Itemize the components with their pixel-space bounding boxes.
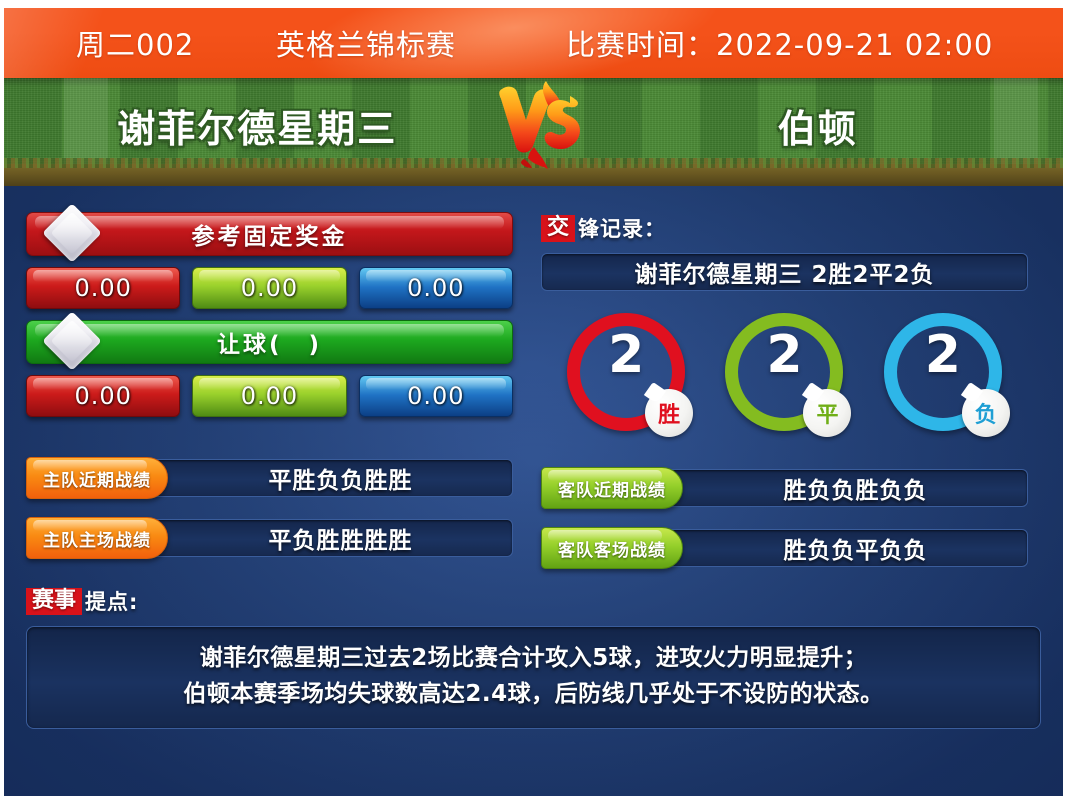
h2h-draw-count: 2: [725, 329, 843, 381]
fixed-odds-draw-button[interactable]: 0.00: [192, 267, 346, 309]
away-away-form-tag[interactable]: 客队客场战绩: [541, 527, 683, 569]
home-home-form-row: 主队主场战绩 平负胜胜胜胜: [26, 517, 513, 559]
handicap-draw-button[interactable]: 0.00: [192, 375, 346, 417]
league-name: 英格兰锦标赛: [276, 22, 566, 64]
tips-line: 谢菲尔德星期三过去2场比赛合计攻入5球，进攻火力明显提升；: [47, 641, 1020, 677]
fixed-odds-loss-button[interactable]: 0.00: [359, 267, 513, 309]
fixed-odds-header: 参考固定奖金: [26, 212, 513, 256]
card-body: 参考固定奖金 0.00 0.00 0.00: [4, 186, 1063, 796]
away-away-form-value: 胜负负平负负: [784, 531, 928, 565]
home-recent-form-value: 平胜负负胜胜: [269, 461, 413, 495]
h2h-win-ring: 2 胜: [567, 313, 685, 431]
h2h-loss-ring: 2 负: [884, 313, 1002, 431]
away-away-form-row: 客队客场战绩 胜负负平负负: [541, 527, 1028, 569]
h2h-label-text: 锋记录：: [578, 213, 666, 243]
handicap-header: 让球( ): [26, 320, 513, 364]
handicap-odds-row: 0.00 0.00 0.00: [26, 375, 513, 417]
diamond-gem-icon: [42, 203, 101, 262]
away-team-name: 伯顿: [593, 98, 1064, 153]
away-recent-form-slot: 胜负负胜负负: [649, 469, 1028, 507]
h2h-panel: 交 锋记录： 谢菲尔德星期三 2胜2平2负 2 胜 2 平: [541, 212, 1028, 569]
tag-gloss: [33, 520, 147, 531]
match-tips-box: 谢菲尔德星期三过去2场比赛合计攻入5球，进攻火力明显提升； 伯顿本赛季场均失球数…: [26, 626, 1041, 729]
header-bar: 周二002 英格兰锦标赛 比赛时间：2022-09-21 02:00: [4, 8, 1063, 78]
button-gloss: [366, 378, 506, 390]
match-preview-card: 周二002 英格兰锦标赛 比赛时间：2022-09-21 02:00 谢菲尔德星…: [4, 8, 1063, 796]
button-gloss: [366, 270, 506, 282]
match-tips-section: 赛事 提点: 谢菲尔德星期三过去2场比赛合计攻入5球，进攻火力明显提升； 伯顿本…: [4, 569, 1063, 729]
tag-gloss: [548, 470, 662, 481]
h2h-win-count: 2: [567, 329, 685, 381]
matchup-banner: 谢菲尔德星期三: [4, 78, 1063, 186]
fixed-odds-row: 0.00 0.00 0.00: [26, 267, 513, 309]
home-recent-form-slot: 平胜负负胜胜: [134, 459, 513, 497]
tag-gloss: [33, 460, 147, 471]
button-gloss: [199, 378, 339, 390]
home-recent-form-tag[interactable]: 主队近期战绩: [26, 457, 168, 499]
home-home-form-tag[interactable]: 主队主场战绩: [26, 517, 168, 559]
vs-flame-icon: [483, 78, 593, 172]
away-away-form-slot: 胜负负平负负: [649, 529, 1028, 567]
home-team-name: 谢菲尔德星期三: [4, 98, 483, 153]
away-recent-form-tag[interactable]: 客队近期战绩: [541, 467, 683, 509]
fixed-odds-win-button[interactable]: 0.00: [26, 267, 180, 309]
away-recent-form-value: 胜负负胜负负: [784, 471, 928, 505]
h2h-draw-badge: 平: [803, 389, 851, 437]
diamond-gem-icon: [42, 311, 101, 370]
h2h-summary-value: 谢菲尔德星期三 2胜2平2负: [634, 255, 934, 289]
bar-gloss: [35, 216, 504, 229]
handicap-win-button[interactable]: 0.00: [26, 375, 180, 417]
match-number: 周二002: [76, 22, 276, 64]
match-time: 比赛时间：2022-09-21 02:00: [566, 22, 993, 64]
button-gloss: [199, 270, 339, 282]
tips-line: 伯顿本赛季场均失球数高达2.4球，后防线几乎处于不设防的状态。: [47, 677, 1020, 713]
home-recent-form-row: 主队近期战绩 平胜负负胜胜: [26, 457, 513, 499]
tips-label-badge: 赛事: [26, 588, 82, 615]
handicap-loss-button[interactable]: 0.00: [359, 375, 513, 417]
h2h-loss-badge: 负: [962, 389, 1010, 437]
home-home-form-slot: 平负胜胜胜胜: [134, 519, 513, 557]
home-home-form-value: 平负胜胜胜胜: [269, 521, 413, 555]
h2h-draw-ring: 2 平: [725, 313, 843, 431]
h2h-loss-count: 2: [884, 329, 1002, 381]
button-gloss: [33, 378, 173, 390]
h2h-summary-slot: 谢菲尔德星期三 2胜2平2负: [541, 253, 1028, 291]
tips-label: 赛事 提点:: [26, 585, 1041, 617]
tag-gloss: [548, 530, 662, 541]
tips-label-text: 提点:: [85, 586, 138, 616]
h2h-win-badge: 胜: [645, 389, 693, 437]
bar-gloss: [35, 324, 504, 337]
h2h-rings: 2 胜 2 平 2 负: [541, 313, 1028, 431]
h2h-label: 交 锋记录：: [541, 212, 1028, 244]
h2h-label-badge: 交: [541, 215, 575, 242]
away-recent-form-row: 客队近期战绩 胜负负胜负负: [541, 467, 1028, 509]
odds-panel: 参考固定奖金 0.00 0.00 0.00: [26, 212, 513, 569]
button-gloss: [33, 270, 173, 282]
